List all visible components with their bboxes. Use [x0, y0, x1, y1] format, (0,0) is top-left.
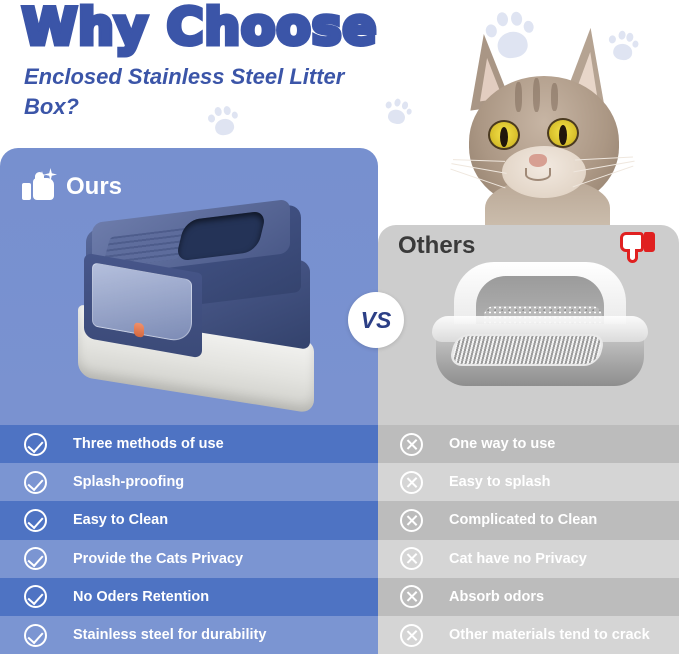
others-feature-label: Other materials tend to crack: [449, 627, 650, 643]
cross-icon: [400, 471, 423, 494]
ours-feature-label: Easy to Clean: [73, 512, 168, 528]
check-icon: [24, 547, 47, 570]
ours-product-image: [78, 205, 333, 405]
table-row: Splash-proofing Easy to splash: [0, 463, 679, 501]
others-cell: Other materials tend to crack: [378, 616, 679, 654]
thumbs-up-icon: [22, 170, 56, 204]
ours-cell: No Oders Retention: [0, 578, 378, 616]
thumbs-down-icon: [620, 230, 656, 264]
ours-cell: Splash-proofing: [0, 463, 378, 501]
others-cell: Absorb odors: [378, 578, 679, 616]
others-cell: Easy to splash: [378, 463, 679, 501]
header: Why Choose Enclosed Stainless Steel Litt…: [0, 0, 679, 148]
cross-icon: [400, 624, 423, 647]
cross-icon: [400, 433, 423, 456]
others-cell: Complicated to Clean: [378, 501, 679, 539]
ours-feature-label: Stainless steel for durability: [73, 627, 266, 643]
table-row: Three methods of use One way to use: [0, 425, 679, 463]
ours-header: Ours: [22, 170, 122, 204]
vs-badge: VS: [348, 292, 404, 348]
comparison-rows: Three methods of use One way to use Spla…: [0, 425, 679, 654]
ours-cell: Stainless steel for durability: [0, 616, 378, 654]
others-feature-label: One way to use: [449, 436, 555, 452]
others-feature-label: Cat have no Privacy: [449, 551, 587, 567]
others-feature-label: Easy to splash: [449, 474, 551, 490]
check-icon: [24, 509, 47, 532]
ours-cell: Three methods of use: [0, 425, 378, 463]
others-label: Others: [398, 232, 475, 260]
ours-feature-label: Provide the Cats Privacy: [73, 551, 243, 567]
ours-cell: Easy to Clean: [0, 501, 378, 539]
page-title: Why Choose: [22, 2, 377, 52]
cross-icon: [400, 509, 423, 532]
ours-cell: Provide the Cats Privacy: [0, 540, 378, 578]
others-cell: Cat have no Privacy: [378, 540, 679, 578]
others-feature-label: Absorb odors: [449, 589, 544, 605]
cross-icon: [400, 547, 423, 570]
others-cell: One way to use: [378, 425, 679, 463]
table-row: Provide the Cats Privacy Cat have no Pri…: [0, 540, 679, 578]
cat-photo: [455, 28, 640, 223]
cross-icon: [400, 585, 423, 608]
paw-print-icon: [380, 95, 416, 131]
check-icon: [24, 433, 47, 456]
check-icon: [24, 624, 47, 647]
table-row: Stainless steel for durability Other mat…: [0, 616, 679, 654]
ours-feature-label: Three methods of use: [73, 436, 224, 452]
ours-label: Ours: [66, 173, 122, 201]
ours-feature-label: No Oders Retention: [73, 589, 209, 605]
others-product-image: [432, 262, 648, 397]
others-feature-label: Complicated to Clean: [449, 512, 597, 528]
ours-feature-label: Splash-proofing: [73, 474, 184, 490]
table-row: Easy to Clean Complicated to Clean: [0, 501, 679, 539]
others-header: Others: [398, 232, 475, 260]
paw-print-icon: [204, 102, 244, 142]
check-icon: [24, 471, 47, 494]
check-icon: [24, 585, 47, 608]
table-row: No Oders Retention Absorb odors: [0, 578, 679, 616]
